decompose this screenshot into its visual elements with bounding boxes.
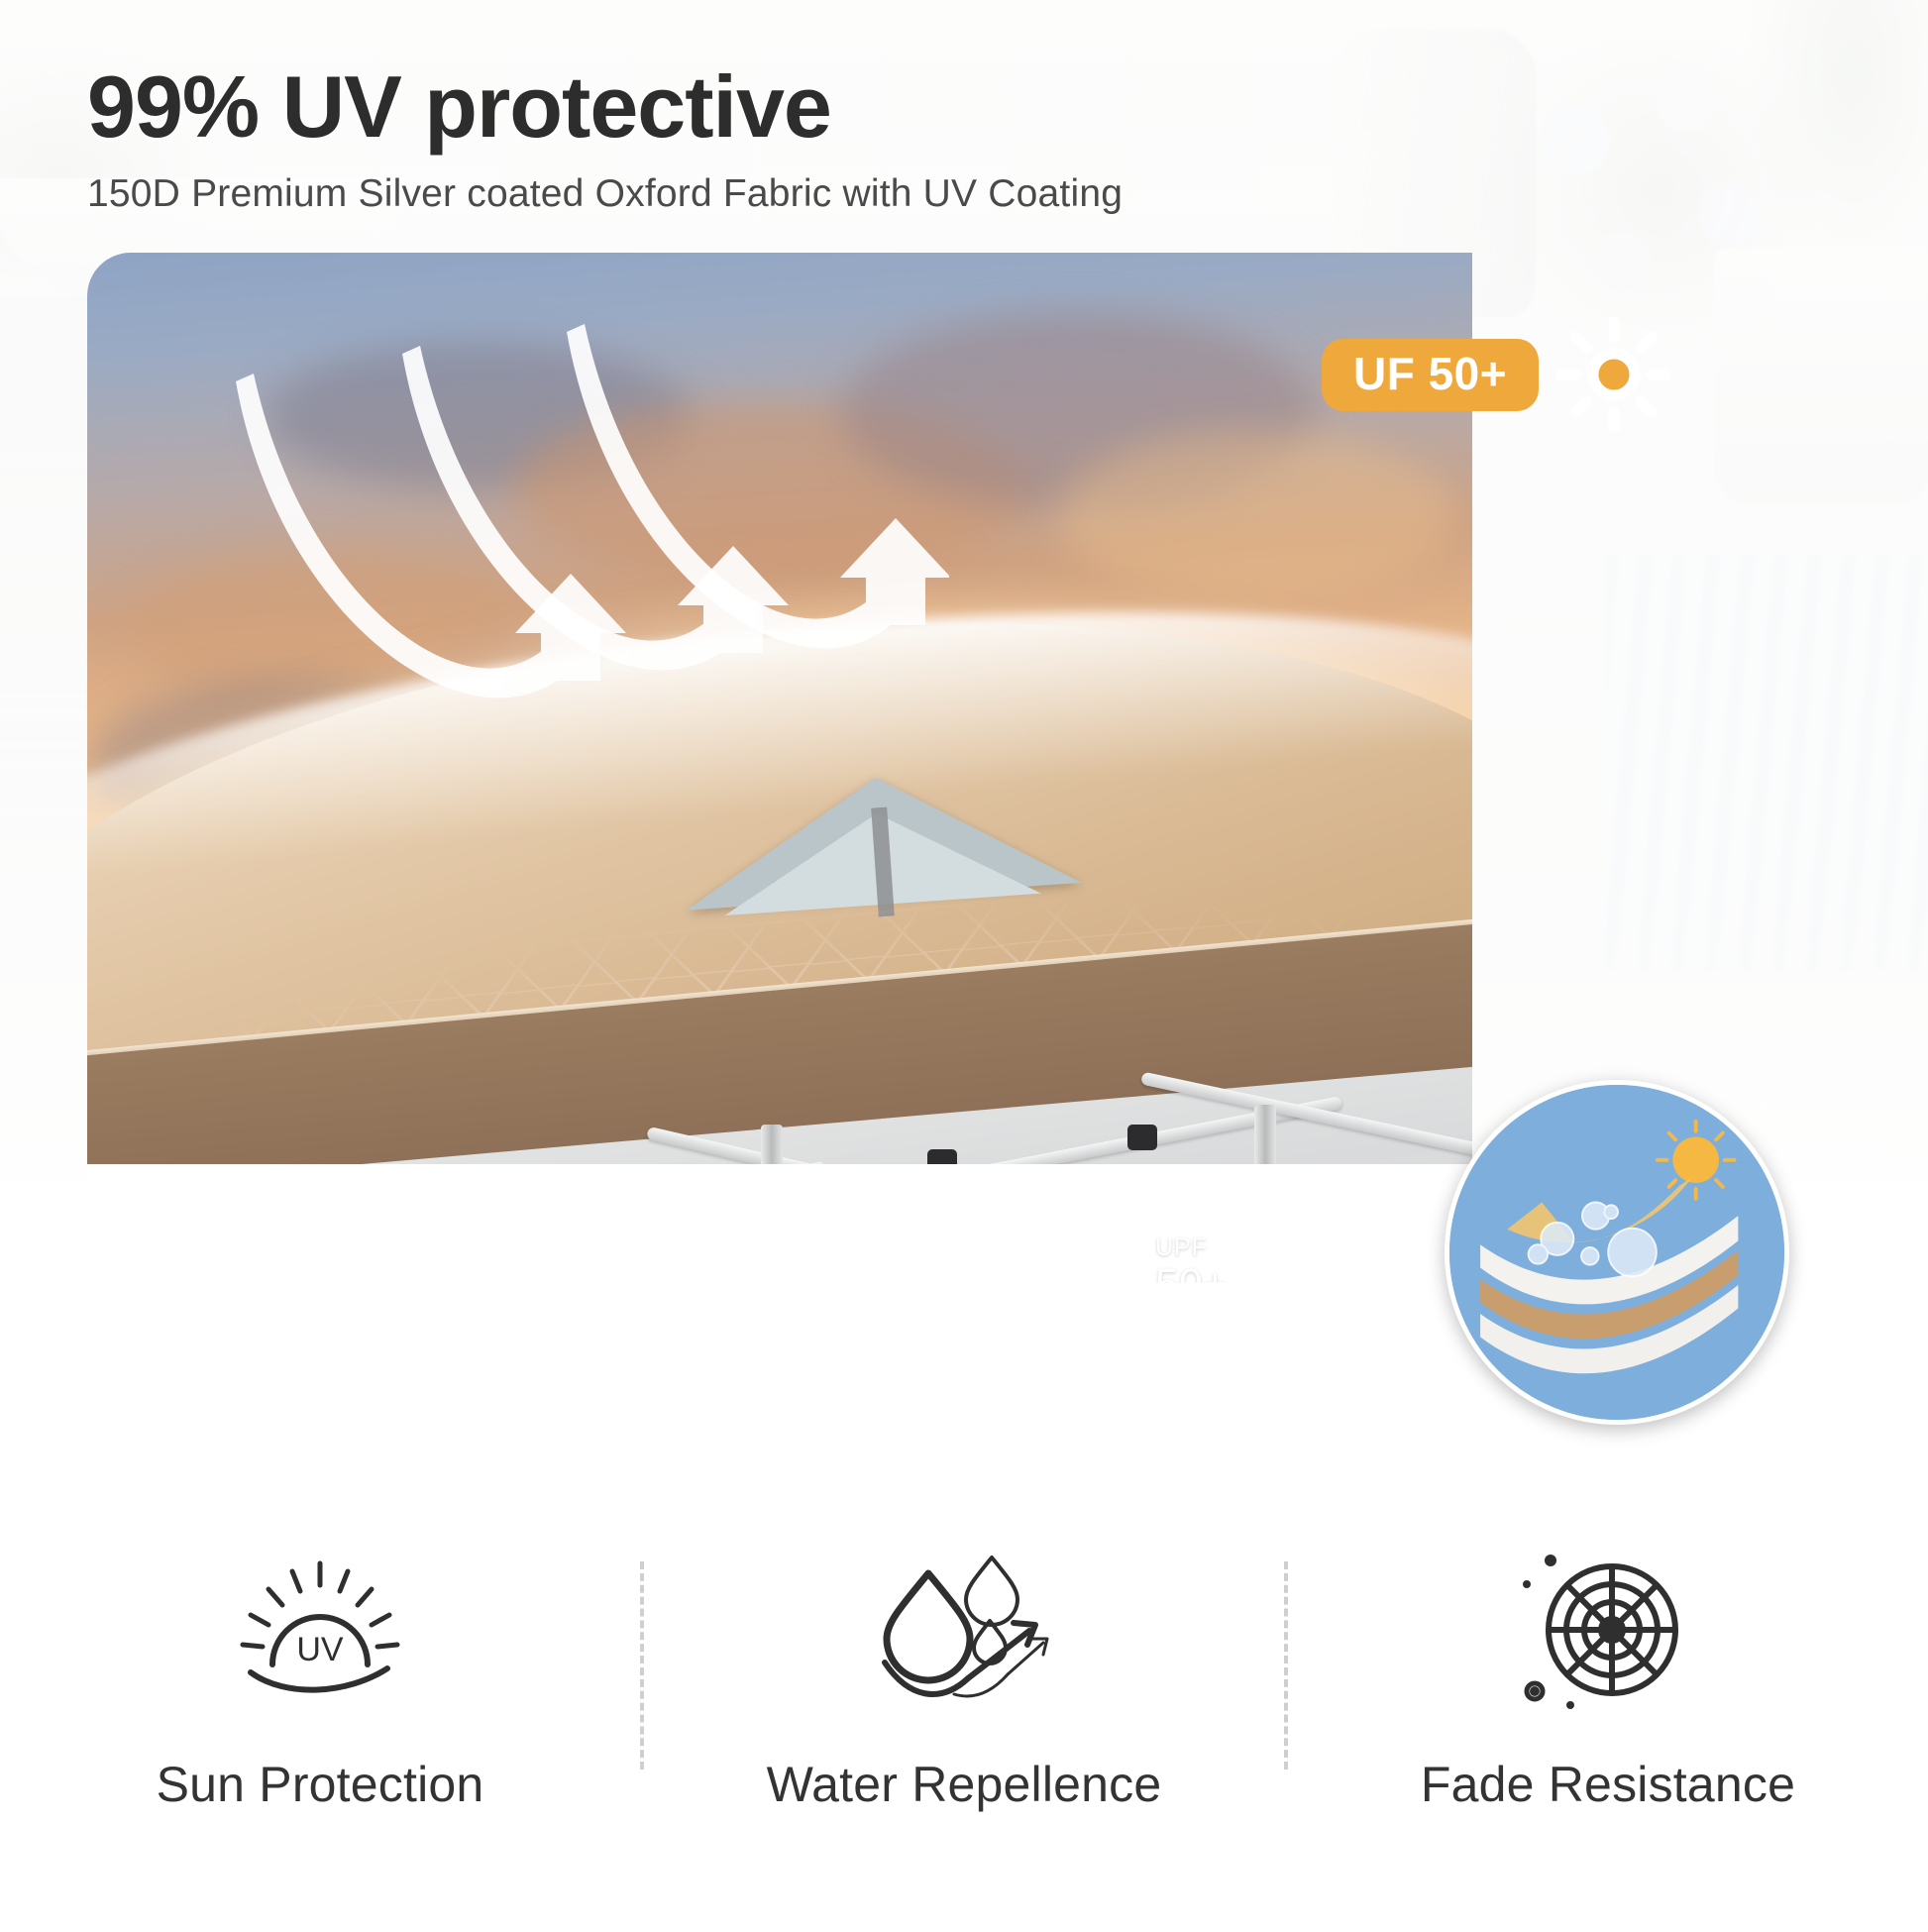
svg-text:UV: UV — [296, 1631, 344, 1668]
uv-deflection-arrows — [236, 312, 949, 768]
sun-uv-icon: UV — [221, 1526, 419, 1734]
upf-marks: UPF 50+ UVA 99% — [1155, 1234, 1240, 1283]
feature-water-repellence: Water Repellence — [644, 1526, 1284, 1813]
feature-label: Fade Resistance — [1421, 1756, 1795, 1813]
feature-sun-protection: UV Sun Protection — [0, 1526, 640, 1813]
page-title: 99% UV protective — [87, 61, 1123, 153]
frame-joint — [1127, 1125, 1157, 1150]
headline-block: 99% UV protective 150D Premium Silver co… — [87, 61, 1123, 216]
feature-strip: UV Sun Protection Water Repe — [0, 1526, 1928, 1922]
upf-value: 50+ — [1155, 1262, 1240, 1283]
upf-row: UPF 50+ — [1155, 1234, 1240, 1283]
image-bottom-fill — [87, 1164, 1472, 1283]
feature-label: Water Repellence — [767, 1756, 1162, 1813]
feature-label: Sun Protection — [157, 1756, 484, 1813]
feature-fade-resistance: Fade Resistance — [1288, 1526, 1928, 1813]
fabric-layers-diagram — [1445, 1080, 1789, 1425]
page-subtitle: 150D Premium Silver coated Oxford Fabric… — [87, 172, 1123, 216]
water-drop-repel-icon — [865, 1526, 1063, 1734]
upf-label: UPF — [1155, 1234, 1240, 1262]
sun-icon — [1556, 317, 1671, 432]
uf50-badge: UF 50+ — [1322, 317, 1671, 432]
fade-resistance-radial-icon — [1509, 1526, 1707, 1734]
uf50-label: UF 50+ — [1322, 339, 1539, 411]
hero-product-image: UPF 50+ UVA 99% — [87, 253, 1472, 1283]
